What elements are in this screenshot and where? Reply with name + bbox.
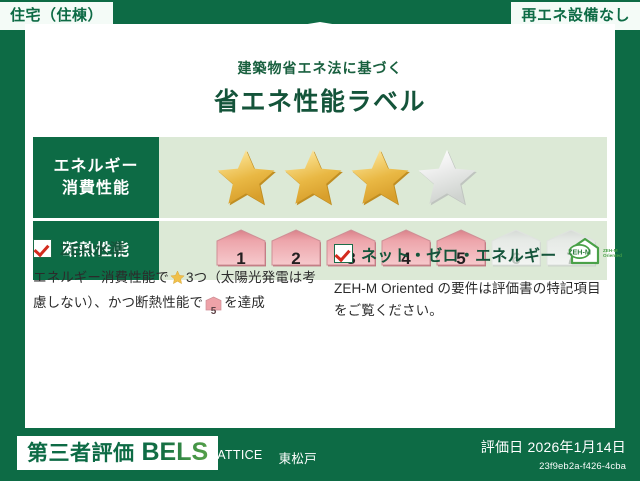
insulation-badge-value: 5 [205,307,222,317]
criterion-zeh-header: ZEH水準 [33,236,320,260]
title-subtitle: 建築物省エネ法に基づく [25,58,615,78]
check-icon-nze [334,244,353,263]
star-icon-empty [416,147,478,209]
star-icon-filled [215,147,277,209]
evaluation-id: 23f9eb2a-f426-4cba [481,461,626,472]
bels-badge: 第三者評価 BELS [17,436,218,470]
energy-performance-label: 住宅（住棟） 再エネ設備なし 建築物省エネ法に基づく 省エネ性能ラベル エネルギ… [0,0,640,481]
footer-band: 第三者評価 BELS LATTICE 東松戸 評価日 2026年1月14日 23… [0,428,640,481]
criterion-nze-header: ネット・ゼロ・エネルギー ZEH-M ZEH-M Oriented [334,236,607,271]
svg-text:ZEH-M: ZEH-M [568,247,591,256]
property-name: 東松戸 [279,448,317,467]
evaluation-date-value: 2026年1月14日 [527,439,626,455]
energy-performance-row: エネルギー 消費性能 [33,137,607,218]
criterion-zeh-title: ZEH水準 [60,236,126,260]
brand-name: LATTICE [210,448,263,467]
criterion-nze-title: ネット・ゼロ・エネルギー [361,242,557,266]
evaluation-date: 評価日 2026年1月14日 [481,437,626,457]
criterion-zeh-text-pre: エネルギー消費性能で [33,270,169,285]
criterion-net-zero-energy: ネット・ゼロ・エネルギー ZEH-M ZEH-M Oriented ZEH-M … [320,236,607,322]
page-title: 省エネ性能ラベル [25,82,615,118]
criterion-zeh-body: エネルギー消費性能で3つ（太陽光発電は考慮しない）、かつ断熱性能で5を達成 [33,267,320,318]
svg-text:Oriented: Oriented [603,253,622,258]
criteria-section: ZEH水準 エネルギー消費性能で3つ（太陽光発電は考慮しない）、かつ断熱性能で5… [33,236,607,322]
insulation-badge-inline: 5 [205,296,222,318]
footer-property-info: LATTICE 東松戸 [210,448,317,467]
energy-label-line2: 消費性能 [62,178,130,199]
star-rating [173,147,478,209]
bels-jp-label: 第三者評価 [27,443,135,464]
label-body: 建築物省エネ法に基づく 省エネ性能ラベル エネルギー 消費性能 断熱性能 [25,24,615,428]
criterion-nze-body: ZEH-M Oriented の要件は評価書の特記項目をご覧ください。 [334,278,607,322]
zeh-m-oriented-logo-icon: ZEH-M ZEH-M Oriented [567,236,623,271]
evaluation-date-label: 評価日 [481,439,524,455]
criterion-zeh-standard: ZEH水準 エネルギー消費性能で3つ（太陽光発電は考慮しない）、かつ断熱性能で5… [33,236,320,322]
star-icon-inline [170,273,185,288]
criterion-zeh-text-post: を達成 [224,295,265,310]
energy-performance-label: エネルギー 消費性能 [33,137,159,218]
title-block: 建築物省エネ法に基づく 省エネ性能ラベル [25,58,615,118]
energy-label-line1: エネルギー [53,156,138,177]
star-icon-filled [282,147,344,209]
star-icon-filled [349,147,411,209]
check-icon-zeh [33,239,52,258]
energy-performance-value [159,137,607,218]
footer-evaluation-info: 評価日 2026年1月14日 23f9eb2a-f426-4cba [481,437,626,472]
bels-logo-text: BELS [142,440,209,465]
